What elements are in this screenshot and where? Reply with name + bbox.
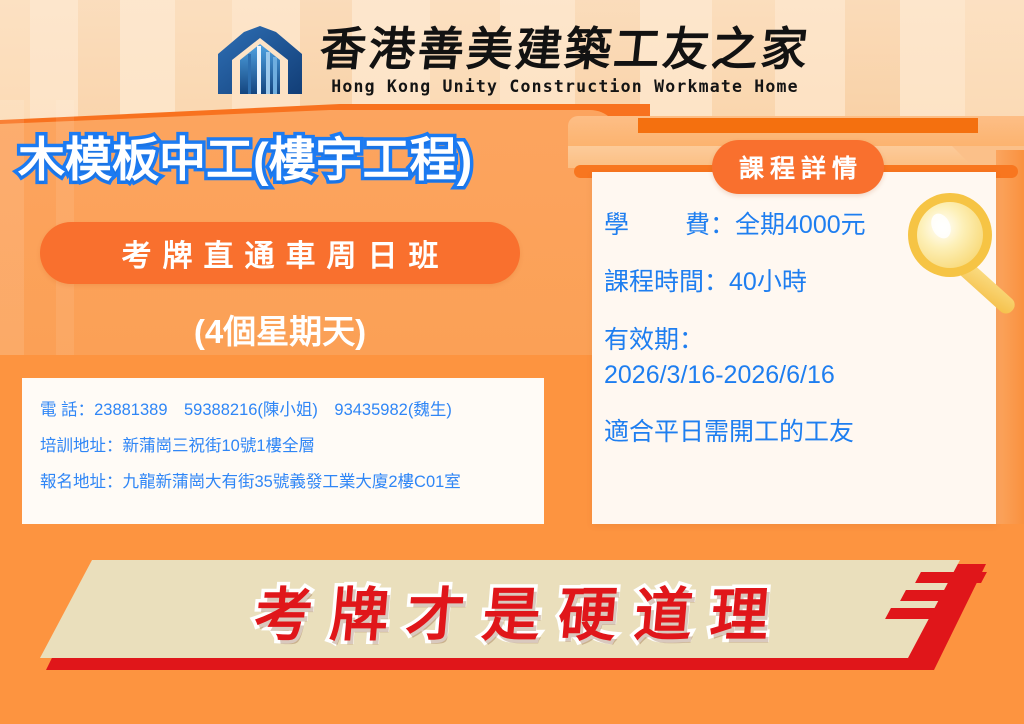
- banner-slogan: 考牌才是硬道理: [0, 568, 1024, 652]
- bottom-banner: 考牌才是硬道理: [0, 560, 1024, 680]
- suitability-row: 適合平日需開工的工友: [604, 417, 994, 448]
- contact-phone-value: 23881389 59388216(陳小姐) 93435982(魏生): [94, 401, 452, 419]
- fee-label-2: 費：: [685, 211, 735, 239]
- contact-info-box: 電 話：23881389 59388216(陳小姐) 93435982(魏生) …: [22, 378, 544, 524]
- building-house-logo-icon: [214, 24, 306, 98]
- page-title: 木模板中工(樓宇工程): [18, 133, 472, 187]
- contact-training-label: 培訓地址：: [40, 437, 123, 455]
- panel-ledge-accent: [638, 118, 978, 133]
- fee-label: 學: [604, 211, 629, 239]
- header: 香港善美建築工友之家 Hong Kong Unity Construction …: [0, 8, 1024, 113]
- contact-phone-row: 電 話：23881389 59388216(陳小姐) 93435982(魏生): [40, 392, 526, 428]
- duration-row: 課程時間：40小時: [604, 267, 994, 298]
- fee-value: 全期4000元: [735, 211, 866, 239]
- validity-label-row: 有效期：: [604, 325, 994, 356]
- fee-row: 學費：全期4000元: [604, 210, 994, 241]
- contact-enroll-row: 報名地址：九龍新蒲崗大有街35號義發工業大廈2樓C01室: [40, 464, 526, 500]
- org-name-en: Hong Kong Unity Construction Workmate Ho…: [331, 77, 799, 96]
- duration-value: 40小時: [729, 268, 807, 296]
- course-type-badge: 考牌直通車周日班: [40, 222, 520, 284]
- course-subtitle: (4個星期天): [40, 305, 520, 353]
- contact-training-row: 培訓地址：新蒲崗三祝街10號1樓全層: [40, 428, 526, 464]
- org-name-cn: 香港善美建築工友之家: [317, 25, 812, 73]
- background-band: [0, 355, 640, 375]
- banner-dash-1: [55, 658, 86, 668]
- course-details-list: 學費：全期4000元 課程時間：40小時 有效期： 2026/3/16-2026…: [604, 210, 994, 448]
- contact-training-value: 新蒲崗三祝街10號1樓全層: [123, 437, 316, 455]
- contact-enroll-value: 九龍新蒲崗大有街35號義發工業大廈2樓C01室: [123, 473, 461, 491]
- contact-enroll-label: 報名地址：: [40, 473, 123, 491]
- duration-label: 課程時間：: [604, 268, 729, 296]
- poster-root: 香港善美建築工友之家 Hong Kong Unity Construction …: [0, 0, 1024, 724]
- banner-dash-2: [95, 658, 132, 668]
- logo-text-block: 香港善美建築工友之家 Hong Kong Unity Construction …: [320, 25, 810, 95]
- banner-dash-3: [143, 658, 188, 668]
- validity-value-row: 2026/3/16-2026/6/16: [604, 360, 994, 391]
- panel-title-badge: 課程詳情: [712, 140, 884, 194]
- contact-phone-label: 電 話：: [40, 401, 94, 419]
